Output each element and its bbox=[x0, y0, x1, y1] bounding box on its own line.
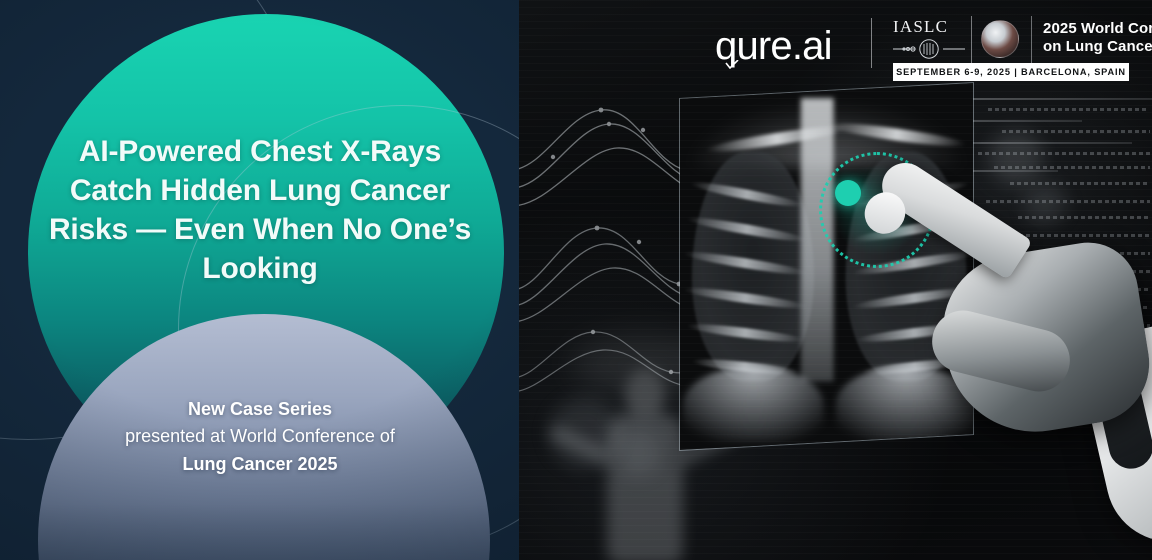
check-mark-icon bbox=[725, 60, 739, 69]
iaslc-divider bbox=[971, 16, 972, 64]
conference-divider bbox=[1031, 16, 1032, 64]
right-image-panel: qure.ai IASLC bbox=[519, 0, 1152, 560]
left-content-panel: AI-Powered Chest X-Rays Catch Hidden Lun… bbox=[0, 0, 520, 560]
pointing-hand bbox=[859, 170, 1152, 500]
subtitle-line-2: presented at World Conference of bbox=[125, 426, 395, 446]
page-title: AI-Powered Chest X-Rays Catch Hidden Lun… bbox=[36, 132, 484, 288]
subtitle-line-3: Lung Cancer 2025 bbox=[60, 451, 460, 478]
conference-date-location-bar: SEPTEMBER 6-9, 2025 | BARCELONA, SPAIN bbox=[893, 63, 1129, 81]
iaslc-logo: IASLC bbox=[891, 18, 969, 62]
brand-header: qure.ai IASLC bbox=[519, 0, 1152, 96]
conference-title: 2025 World Conference on Lung Cancer bbox=[1043, 20, 1152, 57]
iaslc-acronym: IASLC bbox=[893, 18, 948, 35]
subtitle-block: New Case Series presented at World Confe… bbox=[60, 396, 460, 478]
conference-date-location-text: SEPTEMBER 6-9, 2025 | BARCELONA, SPAIN bbox=[896, 67, 1126, 77]
detection-dot-icon bbox=[835, 180, 861, 206]
conference-title-line-1: 2025 World Conference bbox=[1043, 20, 1152, 38]
conference-title-line-2: on Lung Cancer bbox=[1043, 38, 1152, 56]
brand-divider bbox=[871, 18, 872, 68]
subtitle-line-1: New Case Series bbox=[60, 396, 460, 423]
iaslc-emblem-icon bbox=[891, 38, 967, 60]
world-globe-icon bbox=[981, 20, 1019, 58]
marketing-banner: AI-Powered Chest X-Rays Catch Hidden Lun… bbox=[0, 0, 1152, 560]
